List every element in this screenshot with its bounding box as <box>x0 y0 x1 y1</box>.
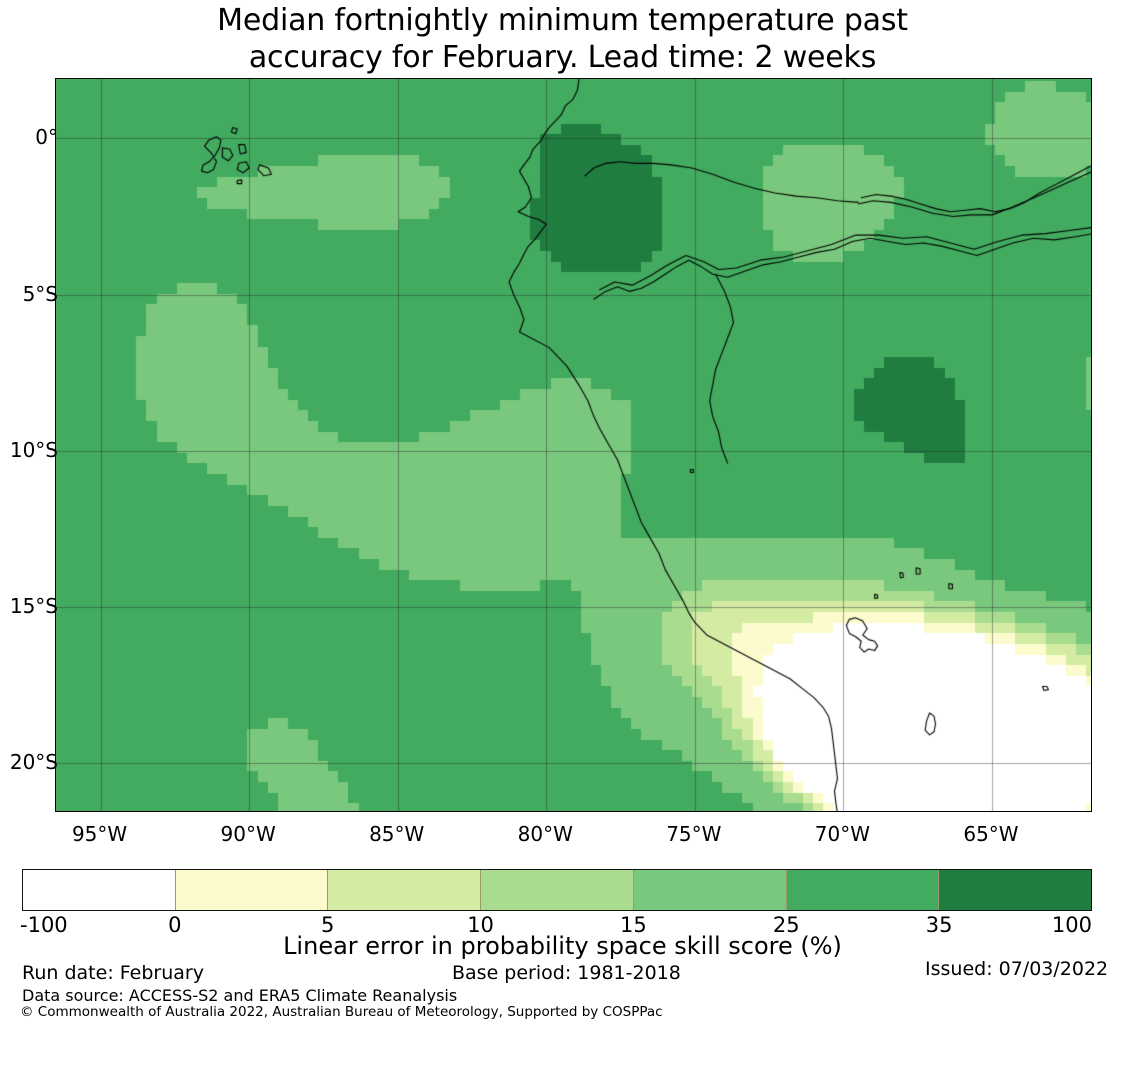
colorbar-band-2 <box>327 870 480 910</box>
colorbar-band-0 <box>23 870 175 910</box>
lon-tick-label: 70°W <box>815 822 870 846</box>
colorbar[interactable] <box>22 869 1092 911</box>
lon-tick-label: 95°W <box>72 822 127 846</box>
colorbar-band-5 <box>786 870 939 910</box>
lon-tick-label: 75°W <box>666 822 721 846</box>
lat-tick-label: 0° <box>35 125 58 149</box>
page-title-line-1: Median fortnightly minimum temperature p… <box>0 2 1125 39</box>
colorbar-title: Linear error in probability space skill … <box>0 932 1125 960</box>
lon-tick-label: 85°W <box>369 822 424 846</box>
coastline-river-overlay <box>56 79 1091 811</box>
page-title-line-2: accuracy for February. Lead time: 2 week… <box>0 39 1125 76</box>
base-period-label: Base period: 1981-2018 <box>452 962 681 984</box>
lat-tick-label: 5°S <box>23 282 58 306</box>
lat-tick-label: 10°S <box>10 438 58 462</box>
colorbar-band-6 <box>938 870 1091 910</box>
page-title: Median fortnightly minimum temperature p… <box>0 2 1125 76</box>
copyright-label: © Commonwealth of Australia 2022, Austra… <box>20 1004 663 1020</box>
run-date-label: Run date: February <box>22 962 204 984</box>
data-source-label: Data source: ACCESS-S2 and ERA5 Climate … <box>22 986 457 1005</box>
map-plot-area[interactable] <box>55 78 1092 812</box>
lat-tick-label: 15°S <box>10 594 58 618</box>
lat-tick-label: 20°S <box>10 750 58 774</box>
colorbar-band-4 <box>633 870 786 910</box>
lon-tick-label: 65°W <box>963 822 1018 846</box>
colorbar-band-1 <box>175 870 328 910</box>
lon-tick-label: 80°W <box>518 822 573 846</box>
lon-tick-label: 90°W <box>221 822 276 846</box>
colorbar-band-3 <box>480 870 633 910</box>
issued-date-label: Issued: 07/03/2022 <box>925 958 1108 980</box>
